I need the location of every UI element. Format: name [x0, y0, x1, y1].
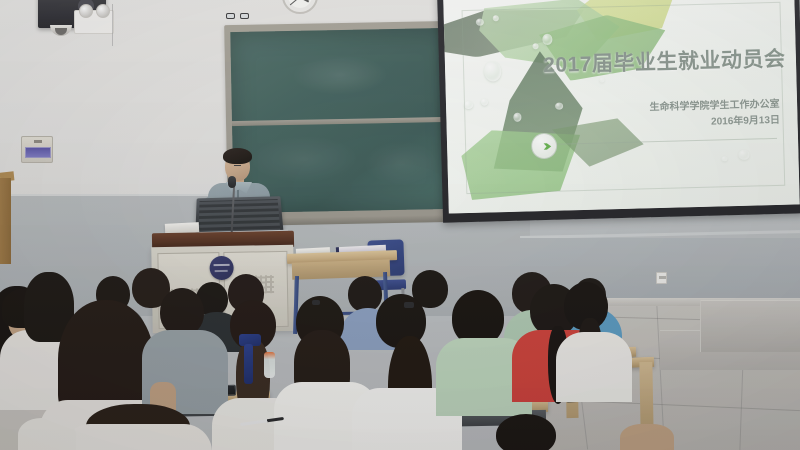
student-torso [62, 424, 212, 450]
student-torso [0, 330, 66, 410]
presentation-slide: 2017届毕业生就业动员会 生命科学学院学生工作办公室 2016年9月13日 [443, 0, 800, 214]
monitor-surface [198, 199, 280, 234]
rimmed-glasses-icon [240, 13, 249, 19]
chalkboard-divider [232, 117, 450, 126]
door-frame [0, 178, 11, 264]
microphone [228, 176, 236, 188]
slide-subtitle: 生命科学学院学生工作办公室 2016年9月13日 [649, 97, 780, 131]
wall-outlet [656, 272, 667, 284]
cable [112, 4, 113, 46]
emergency-light [74, 10, 114, 34]
panel-led [34, 140, 42, 143]
hair-clip [312, 300, 320, 305]
student-torso [556, 332, 632, 402]
student-head [496, 414, 556, 450]
hair-ribbon [244, 344, 253, 384]
student-head [620, 424, 674, 450]
side-desk-apron [292, 259, 391, 279]
glasses-bridge [234, 165, 241, 166]
student-head [348, 276, 382, 312]
presenter-hair [223, 148, 252, 164]
classroom-photo-scene: 2017届毕业生就业动员会 生命科学学院学生工作办公室 2016年9月13日 [0, 0, 800, 450]
wall-control-panel[interactable] [21, 136, 53, 163]
panel-lcd-display [25, 147, 51, 158]
student-head [160, 288, 204, 336]
projection-surface: 2017届毕业生就业动员会 生命科学学院学生工作办公室 2016年9月13日 [443, 0, 800, 214]
water-bottle[interactable] [264, 352, 275, 378]
rimmed-glasses-icon [226, 13, 235, 19]
hair-clip [404, 302, 414, 308]
student-head [18, 418, 76, 450]
platform-step [700, 300, 800, 352]
projection-screen: 2017届毕业生就业动员会 生命科学学院学生工作办公室 2016年9月13日 [437, 0, 800, 223]
